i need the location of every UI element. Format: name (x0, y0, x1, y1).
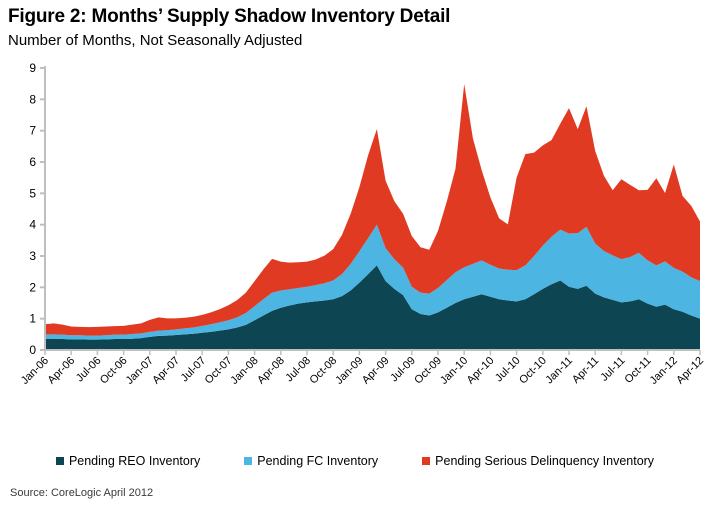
x-axis-tick-label: Jan-10 (438, 355, 470, 387)
y-axis-tick-label: 2 (29, 280, 36, 294)
legend-label-delinquency: Pending Serious Delinquency Inventory (435, 454, 654, 468)
y-axis-tick-label: 9 (29, 61, 36, 75)
x-axis-tick-label: Apr-06 (45, 355, 77, 387)
x-axis-tick-label: Apr-12 (674, 355, 706, 387)
y-axis-tick-label: 8 (29, 92, 36, 106)
x-axis-tick-label: Apr-11 (570, 355, 601, 386)
x-axis-tick-label: Jan-07 (124, 355, 156, 387)
legend-item-delinquency[interactable]: Pending Serious Delinquency Inventory (422, 454, 654, 468)
x-axis-tick-label: Jan-09 (333, 355, 365, 387)
x-axis-tick-label: Oct-07 (203, 355, 235, 387)
legend-item-fc[interactable]: Pending FC Inventory (244, 454, 378, 468)
x-axis-tick-label: Jan-11 (543, 355, 575, 387)
y-axis-tick-label: 7 (29, 124, 36, 138)
x-axis-tick-label: Oct-11 (622, 355, 653, 386)
x-axis-tick-label: Apr-09 (360, 355, 392, 387)
x-axis-tick-label: Apr-10 (465, 355, 497, 387)
legend-swatch-fc (244, 457, 252, 465)
x-axis-tick-label: Apr-07 (150, 355, 182, 387)
y-axis-tick-label: 1 (29, 312, 36, 326)
y-axis-tick-label: 3 (29, 249, 36, 263)
x-axis-tick-label: Oct-10 (517, 355, 549, 387)
chart-plot-area: 0123456789Jan-06Apr-06Jul-06Oct-06Jan-07… (0, 58, 710, 408)
chart-subtitle: Number of Months, Not Seasonally Adjuste… (8, 32, 302, 49)
figure-container: Figure 2: Months’ Supply Shadow Inventor… (0, 0, 710, 528)
legend-item-reo[interactable]: Pending REO Inventory (56, 454, 200, 468)
x-axis-tick-label: Oct-08 (307, 355, 339, 387)
legend-swatch-reo (56, 457, 64, 465)
x-axis-tick-label: Apr-08 (255, 355, 287, 387)
x-axis-tick-label: Jan-06 (19, 355, 51, 387)
stacked-area-chart: 0123456789Jan-06Apr-06Jul-06Oct-06Jan-07… (0, 58, 710, 408)
y-axis-tick-label: 6 (29, 155, 36, 169)
y-axis-tick-label: 5 (29, 186, 36, 200)
x-axis-tick-label: Oct-09 (412, 355, 444, 387)
y-axis-tick-label: 0 (29, 343, 36, 357)
page-title: Figure 2: Months’ Supply Shadow Inventor… (8, 6, 450, 28)
x-axis-tick-label: Oct-06 (98, 355, 130, 387)
legend-label-fc: Pending FC Inventory (257, 454, 378, 468)
legend-label-reo: Pending REO Inventory (69, 454, 200, 468)
y-axis-tick-label: 4 (29, 218, 36, 232)
x-axis-tick-label: Jan-12 (648, 355, 680, 387)
x-axis-tick-label: Jan-08 (228, 355, 260, 387)
source-note: Source: CoreLogic April 2012 (10, 487, 153, 499)
chart-legend: Pending REO Inventory Pending FC Invento… (0, 450, 710, 472)
legend-swatch-delinquency (422, 457, 430, 465)
